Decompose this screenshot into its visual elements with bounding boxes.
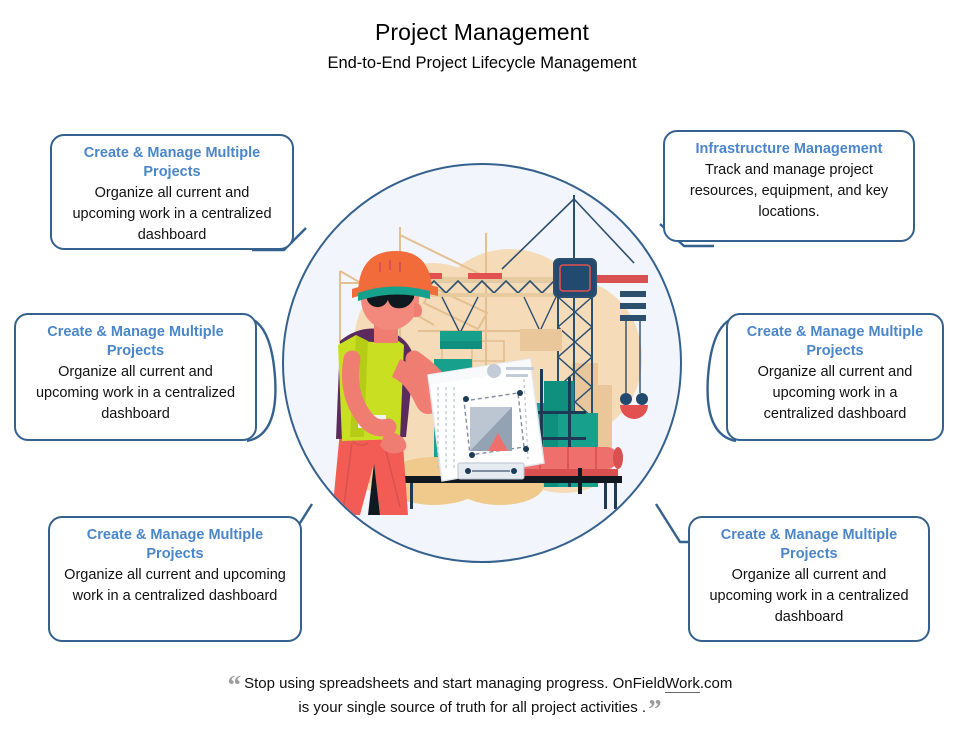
- header: Project Management End-to-End Project Li…: [0, 18, 964, 74]
- callout-body: Organize all current and upcoming work i…: [62, 183, 282, 246]
- quote-close-icon: ”: [648, 694, 662, 724]
- callout-bottom-left[interactable]: Create & Manage Multiple Projects Organi…: [48, 516, 302, 642]
- page-subtitle: End-to-End Project Lifecycle Management: [0, 52, 964, 74]
- callout-body: Organize all current and upcoming work i…: [60, 565, 290, 607]
- callout-body: Track and manage project resources, equi…: [675, 160, 903, 223]
- quote-line-2: is your single source of truth for all p…: [170, 696, 790, 720]
- page-title: Project Management: [0, 18, 964, 46]
- quote-line-1-text: Stop using spreadsheets and start managi…: [244, 675, 665, 692]
- callout-title: Create & Manage Multiple Projects: [60, 526, 290, 564]
- quote-line-1-underlined: Work: [665, 675, 700, 693]
- callout-title: Create & Manage Multiple Projects: [738, 323, 932, 361]
- callout-body: Organize all current and upcoming work i…: [26, 362, 245, 425]
- center-circle-graphic: [282, 163, 682, 563]
- callout-top-left[interactable]: Create & Manage Multiple Projects Organi…: [50, 134, 294, 250]
- callout-middle-right[interactable]: Create & Manage Multiple Projects Organi…: [726, 313, 944, 441]
- callout-title: Create & Manage Multiple Projects: [26, 323, 245, 361]
- callout-title: Infrastructure Management: [675, 140, 903, 159]
- callout-top-right[interactable]: Infrastructure Management Track and mana…: [663, 130, 915, 242]
- callout-middle-left[interactable]: Create & Manage Multiple Projects Organi…: [14, 313, 257, 441]
- footer-quote: “Stop using spreadsheets and start manag…: [170, 672, 790, 720]
- quote-line-2-text: is your single source of truth for all p…: [298, 699, 646, 716]
- quote-line-1-tld: .com: [700, 675, 733, 692]
- callout-bottom-right[interactable]: Create & Manage Multiple Projects Organi…: [688, 516, 930, 642]
- callout-title: Create & Manage Multiple Projects: [700, 526, 918, 564]
- callout-title: Create & Manage Multiple Projects: [62, 144, 282, 182]
- quote-open-icon: “: [228, 670, 242, 700]
- slide-canvas: Project Management End-to-End Project Li…: [0, 0, 964, 734]
- quote-line-1: “Stop using spreadsheets and start manag…: [170, 672, 790, 696]
- callout-body: Organize all current and upcoming work i…: [700, 565, 918, 628]
- callout-body: Organize all current and upcoming work i…: [738, 362, 932, 425]
- construction-worker-blueprint-illustration: [282, 163, 682, 563]
